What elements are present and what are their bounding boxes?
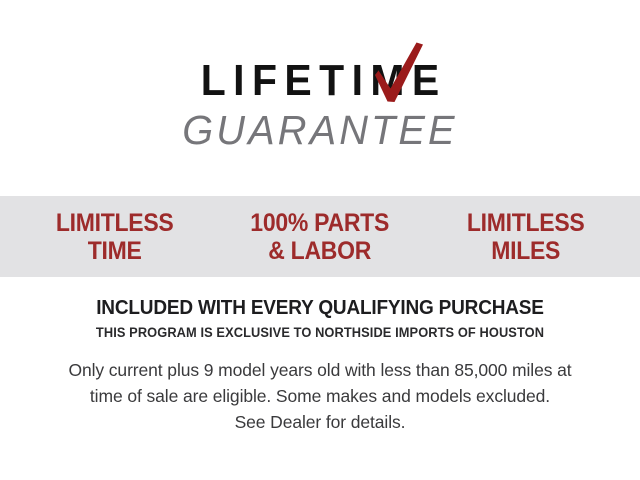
logo-secondary-text: GUARANTEE	[182, 108, 457, 152]
details-fineprint: Only current plus 9 model years old with…	[0, 357, 640, 435]
feature-column-limitless-time: LIMITLESS TIME	[20, 209, 209, 265]
details-block: INCLUDED WITH EVERY QUALIFYING PURCHASE …	[0, 296, 640, 435]
logo-primary-text: LIFETIME	[188, 58, 452, 104]
logo-block: LIFETIME GUARANTEE	[0, 58, 640, 152]
logo-lockup: LIFETIME GUARANTEE	[178, 58, 462, 152]
fineprint-line: See Dealer for details.	[0, 409, 640, 435]
feature-column-limitless-miles: LIMITLESS MILES	[431, 209, 620, 265]
details-headline: INCLUDED WITH EVERY QUALIFYING PURCHASE	[16, 296, 624, 320]
feature-label-line2: MILES	[431, 237, 620, 265]
feature-label-line2: & LABOR	[226, 237, 415, 265]
feature-label-line2: TIME	[20, 237, 209, 265]
details-subheadline: THIS PROGRAM IS EXCLUSIVE TO NORTHSIDE I…	[16, 324, 624, 341]
lifetime-guarantee-advertisement: LIFETIME GUARANTEE LIMITLESS TIME 100% P…	[0, 0, 640, 480]
feature-label-line1: 100% PARTS	[251, 209, 390, 237]
fineprint-line: Only current plus 9 model years old with…	[0, 357, 640, 383]
feature-label-line1: LIMITLESS	[56, 209, 174, 237]
feature-label-line1: LIMITLESS	[467, 209, 585, 237]
feature-band: LIMITLESS TIME 100% PARTS & LABOR LIMITL…	[0, 196, 640, 277]
feature-column-parts-labor: 100% PARTS & LABOR	[226, 209, 415, 265]
fineprint-line: time of sale are eligible. Some makes an…	[0, 383, 640, 409]
